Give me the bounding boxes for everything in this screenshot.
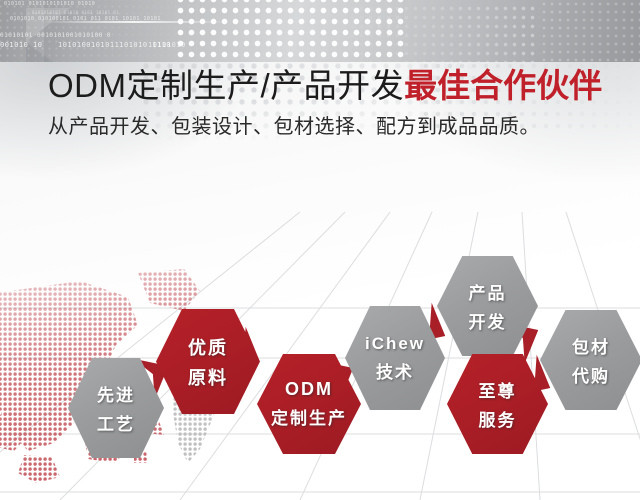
hex-label-line1: 包材 bbox=[572, 333, 610, 358]
hex-label-line2: 原料 bbox=[188, 364, 228, 390]
promotional-banner: 010101 0101010101010 01010 0101010101 01… bbox=[0, 0, 640, 500]
hex-label-line1: ODM bbox=[285, 379, 333, 400]
binary-strip-7: 10101010 bbox=[148, 41, 186, 49]
hex-label-line2: 工艺 bbox=[97, 410, 135, 435]
main-headline-highlight: 最佳合作伙伴 bbox=[404, 67, 602, 104]
binary-strip-1: 010101 0101010101010 01010 bbox=[4, 1, 95, 7]
hex-label-line2: 开发 bbox=[469, 308, 507, 333]
hex-label-line1: 产品 bbox=[469, 279, 507, 304]
subtitle: 从产品开发、包装设计、包材选择、配方到成品品质。 bbox=[48, 114, 608, 140]
main-headline-prefix: ODM定制生产/产品开发 bbox=[48, 67, 404, 104]
binary-strip-5: 001010 10 bbox=[0, 41, 42, 49]
binary-strip-3: 0101010 010100101 0101 011 0101 10101 10… bbox=[10, 16, 161, 22]
header-dot-pattern-far-right bbox=[540, 0, 640, 62]
hex-label-line2: 服务 bbox=[479, 406, 517, 431]
hex-label-line1: iChew bbox=[365, 334, 425, 354]
hex-label-line1: 先进 bbox=[97, 381, 135, 406]
header-texture-band: 010101 0101010101010 01010 0101010101 01… bbox=[0, 0, 640, 62]
hex-label-line2: 定制生产 bbox=[271, 404, 347, 429]
hex-label-line2: 技术 bbox=[376, 358, 414, 383]
binary-strip-2: 0101010101 01010 0101 10101 01 bbox=[32, 10, 119, 15]
header-dot-pattern-right bbox=[330, 4, 540, 62]
main-headline: ODM定制生产/产品开发最佳合作伙伴 bbox=[48, 66, 608, 106]
hex-label-line1: 优质 bbox=[188, 334, 228, 360]
title-block: ODM定制生产/产品开发最佳合作伙伴 从产品开发、包装设计、包材选择、配方到成品… bbox=[48, 66, 608, 140]
hex-label-line1: 至尊 bbox=[479, 377, 517, 402]
hex-label-line2: 代购 bbox=[572, 362, 610, 387]
binary-strip-4: 01010101 0010101001010100 0 bbox=[0, 32, 111, 39]
